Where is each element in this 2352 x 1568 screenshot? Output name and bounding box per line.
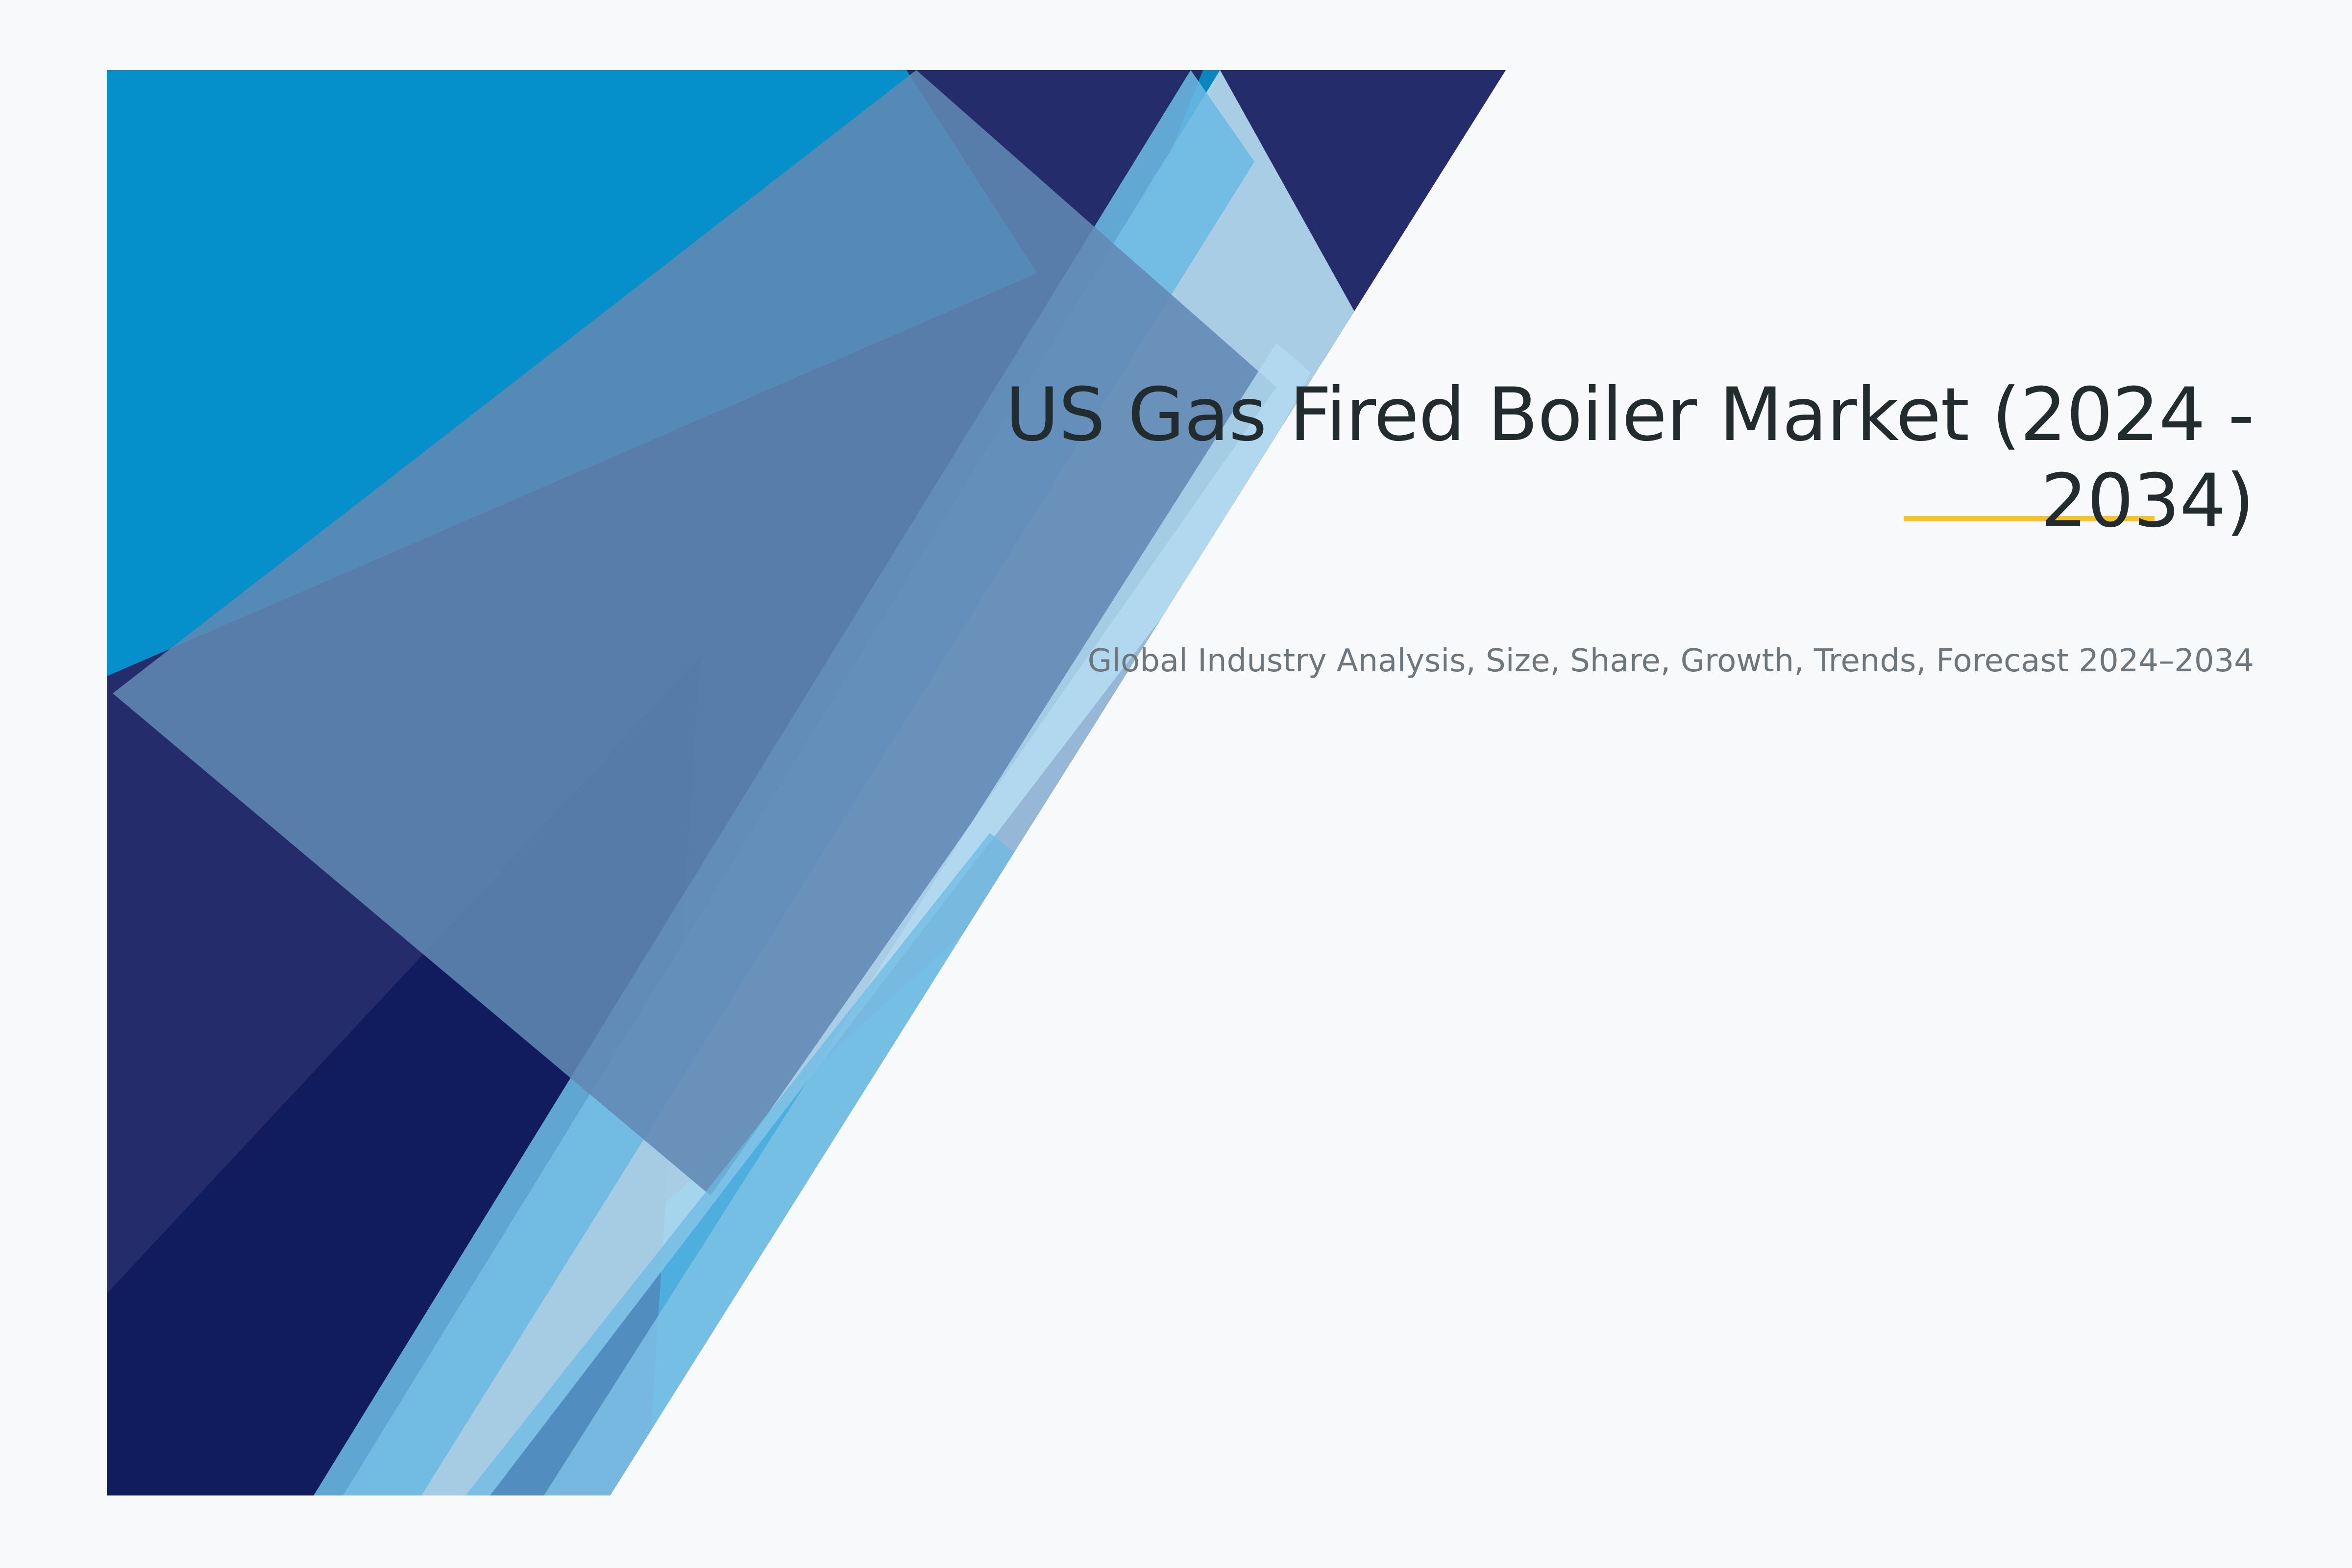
shape-sky-blue-sliver xyxy=(314,70,1254,1495)
shape-sky-blue-lower-wedge xyxy=(465,833,1098,1495)
shape-navy-diagonal-band xyxy=(107,70,1506,1495)
page-title: US Gas Fired Boiler Market (2024 - 2034) xyxy=(931,372,2254,544)
shape-cyan-field xyxy=(107,70,1506,1495)
abstract-polygon-graphic xyxy=(0,0,2352,1568)
page-subtitle: Global Industry Analysis, Size, Share, G… xyxy=(931,640,2254,682)
title-wrapper: US Gas Fired Boiler Market (2024 - 2034) xyxy=(931,372,2254,544)
shape-pale-blue-sweep xyxy=(343,70,1372,1495)
report-cover-page: US Gas Fired Boiler Market (2024 - 2034)… xyxy=(0,0,2352,1568)
shape-deep-navy-mass xyxy=(107,657,701,1495)
cover-text-block: US Gas Fired Boiler Market (2024 - 2034)… xyxy=(931,372,2254,682)
